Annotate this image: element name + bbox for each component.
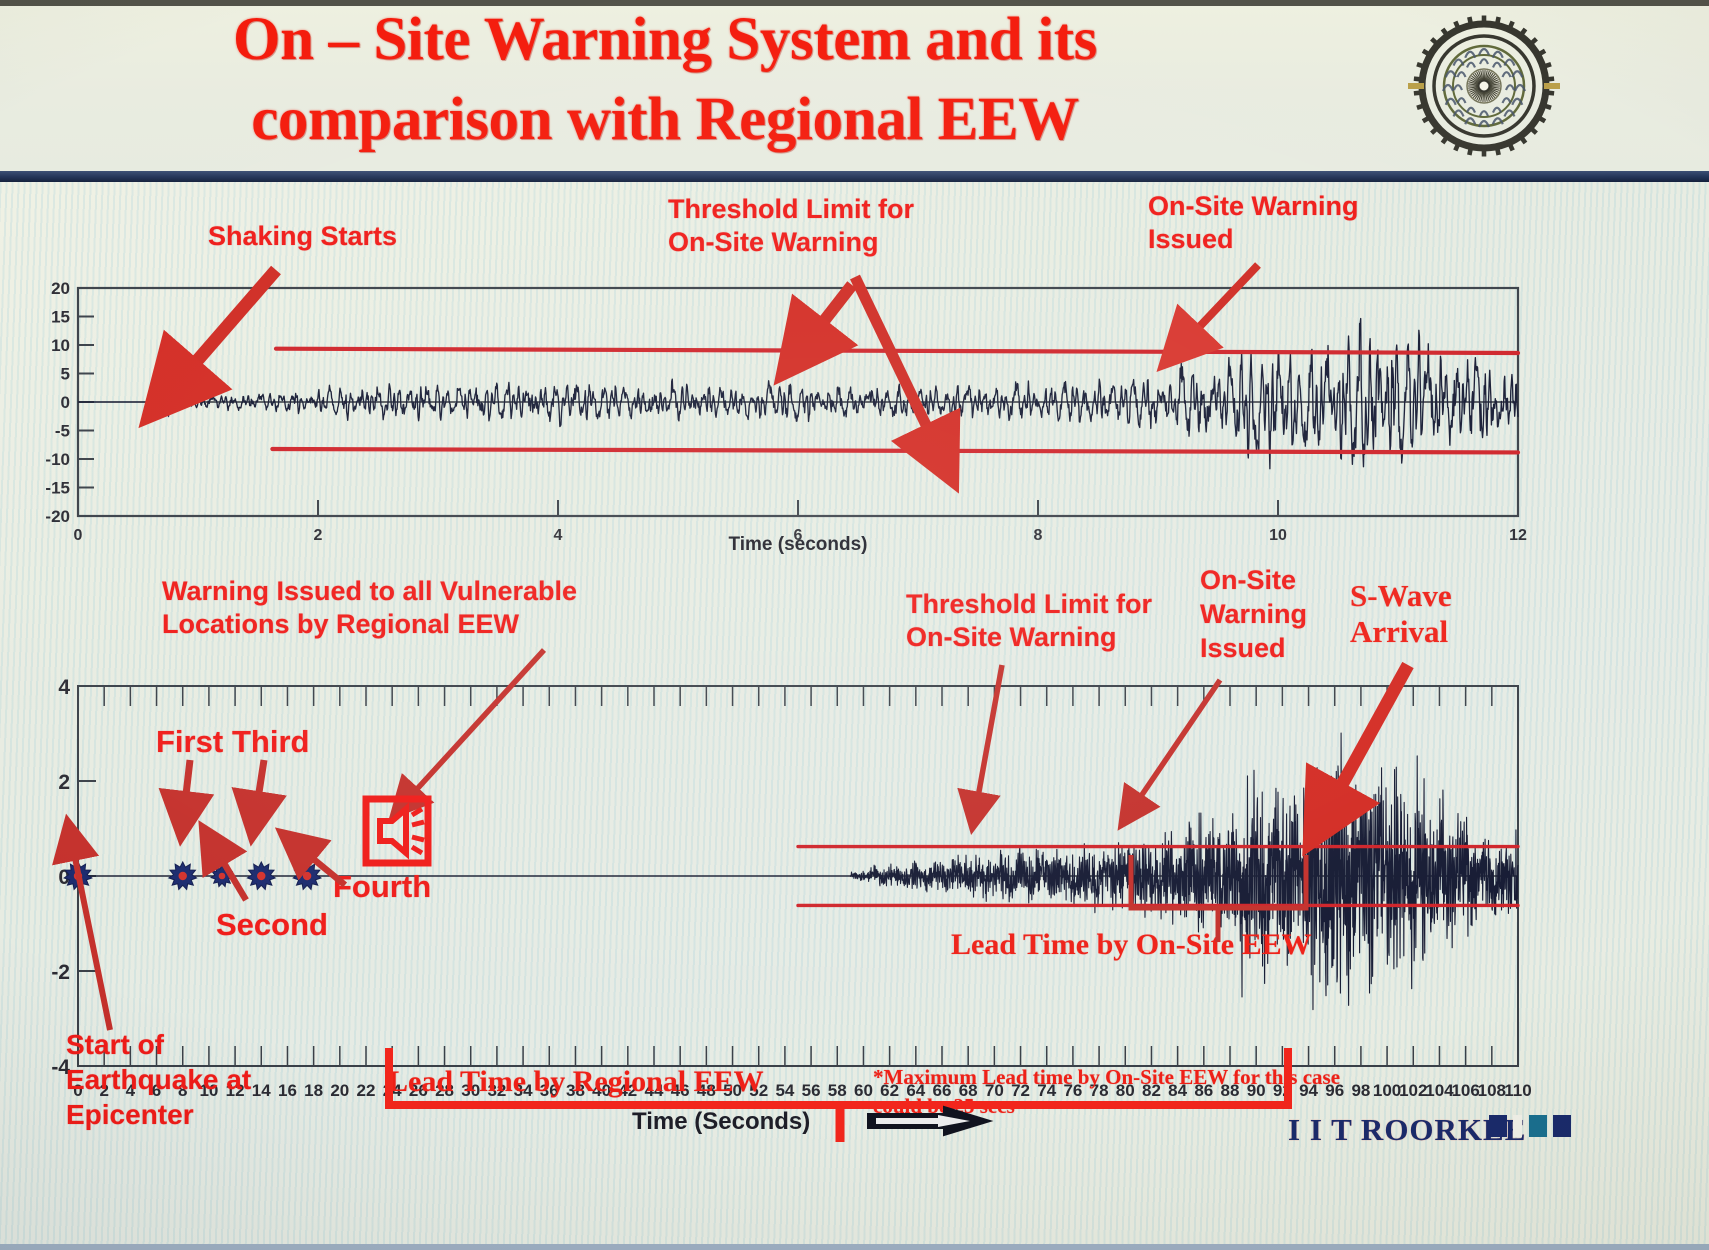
page-title-line-1: On – Site Warning System and its: [0, 0, 1330, 80]
slide-canvas: On – Site Warning System and its compari…: [0, 0, 1709, 1250]
top-annotation-arrows: [0, 180, 1709, 540]
bottom-annotation-arrows: [0, 560, 1709, 1250]
iit-roorkee-gear-emblem-icon: [1404, 6, 1564, 166]
footer-swatches-icon: [1489, 1113, 1579, 1141]
page-title: On – Site Warning System and its compari…: [0, 0, 1330, 160]
time-direction-arrow-icon: [866, 1104, 996, 1138]
warning-broadcast-speaker-icon: [362, 795, 432, 867]
page-title-line-2: comparison with Regional EEW: [0, 80, 1330, 160]
bottom-edge-bar: [0, 1244, 1709, 1250]
